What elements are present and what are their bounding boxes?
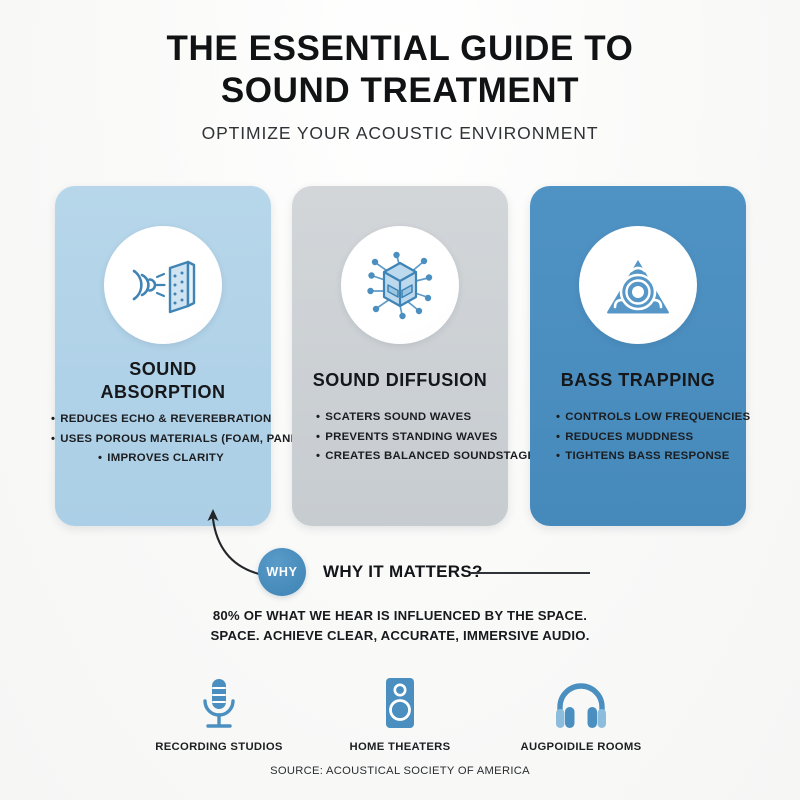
card-bullet: USES POROUS MATERIALS (FOAM, PANELS) [51, 430, 271, 450]
card-bullet: TIGHTENS BASS RESPONSE [556, 447, 746, 467]
application-label: RECORDING STUDIOS [155, 741, 283, 753]
header: THE ESSENTIAL GUIDE TO SOUND TREATMENT O… [0, 28, 800, 144]
card-bullet: PREVENTS STANDING WAVES [316, 428, 508, 448]
why-divider-rule [470, 572, 590, 574]
why-badge-label: WHY [266, 565, 297, 579]
card-bullet: SCATERS SOUND WAVES [316, 408, 508, 428]
application-audiophile-rooms[interactable]: AUGPOIDILE ROOMS [519, 676, 643, 753]
card-bullet: REDUCES MUDDNESS [556, 428, 746, 448]
card-title: SOUND ABSORPTION [55, 358, 271, 404]
card-title-line-1: SOUND [55, 358, 271, 381]
card-bullet: CONTROLS LOW FREQUENCIES [556, 408, 746, 428]
infographic-canvas: THE ESSENTIAL GUIDE TO SOUND TREATMENT O… [0, 0, 800, 800]
headphones-icon [554, 676, 608, 730]
why-it-matters-heading: WHY IT MATTERS? [323, 562, 483, 582]
bass-trap-triangle-woofer-icon [579, 226, 697, 344]
card-sound-diffusion[interactable]: SOUND DIFFUSION SCATERS SOUND WAVES PREV… [292, 186, 508, 526]
page-title-line-2: SOUND TREATMENT [0, 70, 800, 112]
absorption-panel-soundwave-icon [104, 226, 222, 344]
card-bullet-list: REDUCES ECHO & REVEREBRATION USES POROUS… [55, 410, 271, 469]
card-title-line-2: ABSORPTION [55, 381, 271, 404]
card-title: BASS TRAPPING [530, 369, 746, 392]
application-label: AUGPOIDILE ROOMS [521, 741, 642, 753]
applications-row: RECORDING STUDIOS HOME THEATERS [0, 676, 800, 753]
card-sound-absorption[interactable]: SOUND ABSORPTION REDUCES ECHO & REVEREBR… [55, 186, 271, 526]
card-title-line-1: BASS TRAPPING [530, 369, 746, 392]
source-citation: SOURCE: ACOUSTICAL SOCIETY OF AMERICA [0, 765, 800, 777]
card-bass-trapping[interactable]: BASS TRAPPING CONTROLS LOW FREQUENCIES R… [530, 186, 746, 526]
application-label: HOME THEATERS [350, 741, 451, 753]
page-title-line-1: THE ESSENTIAL GUIDE TO [0, 28, 800, 70]
page-subtitle: OPTIMIZE YOUR ACOUSTIC ENVIRONMENT [0, 123, 800, 144]
microphone-icon [197, 676, 241, 730]
application-recording-studios[interactable]: RECORDING STUDIOS [157, 676, 281, 753]
why-body-line-2: SPACE. ACHIEVE CLEAR, ACCURATE, IMMERSIV… [0, 626, 800, 646]
card-bullet: REDUCES ECHO & REVEREBRATION [51, 410, 271, 430]
speaker-icon [382, 676, 418, 730]
why-it-matters-body: 80% OF WHAT WE HEAR IS INFLUENCED BY THE… [0, 606, 800, 647]
diffusion-cube-nodes-icon [341, 226, 459, 344]
card-bullet-list: SCATERS SOUND WAVES PREVENTS STANDING WA… [292, 408, 508, 467]
card-bullet-list: CONTROLS LOW FREQUENCIES REDUCES MUDDNES… [530, 408, 746, 467]
why-badge: WHY [258, 548, 306, 596]
card-title-line-1: SOUND DIFFUSION [292, 369, 508, 392]
card-title: SOUND DIFFUSION [292, 369, 508, 392]
application-home-theaters[interactable]: HOME THEATERS [338, 676, 462, 753]
card-bullet: CREATES BALANCED SOUNDSTAGE [316, 447, 508, 467]
card-bullet: IMPROVES CLARITY [51, 449, 271, 469]
why-body-line-1: 80% OF WHAT WE HEAR IS INFLUENCED BY THE… [0, 606, 800, 626]
